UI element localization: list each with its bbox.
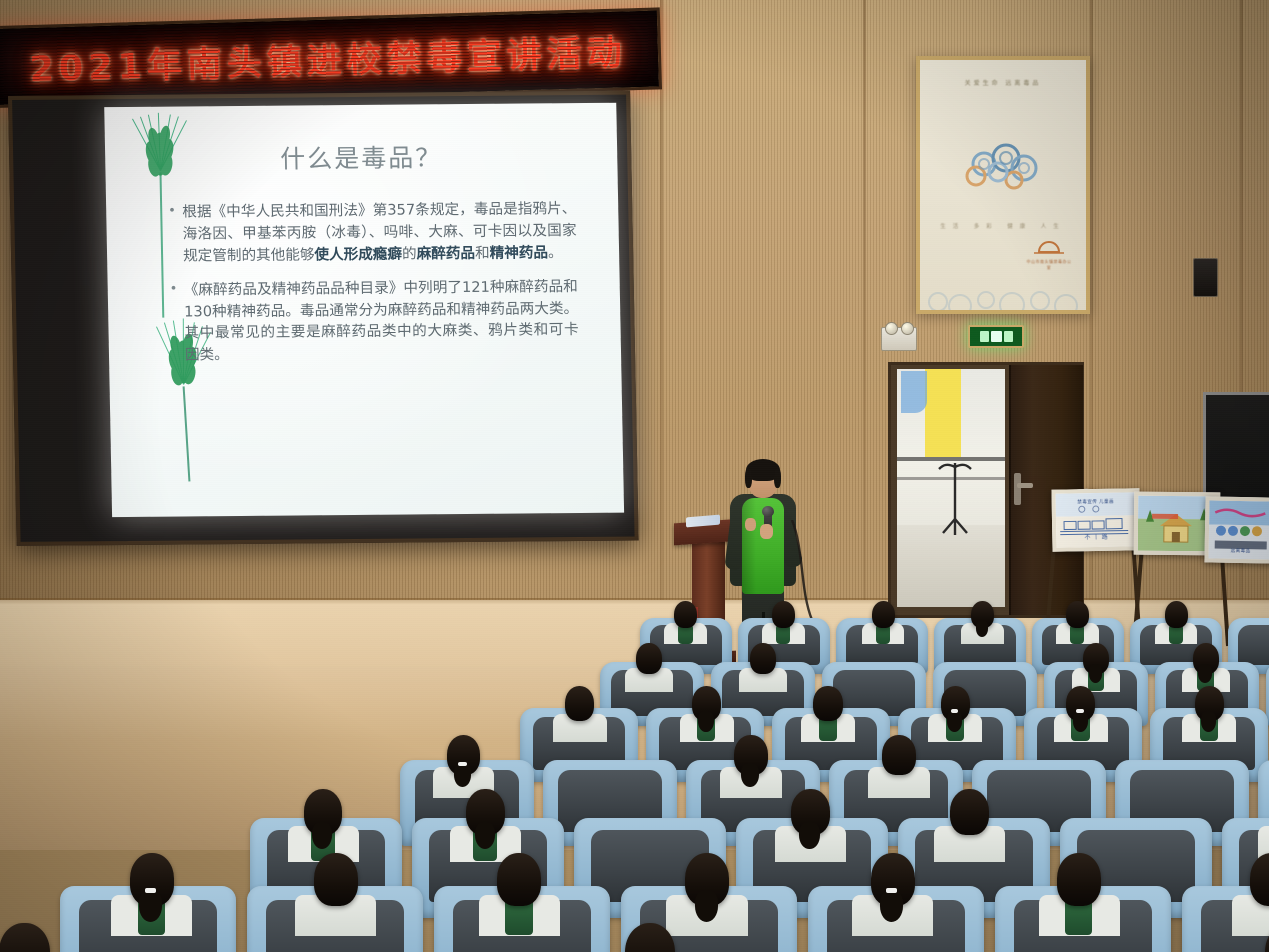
- coat-rack-icon: [937, 449, 973, 537]
- projection-surround: 什么是毒品？ •根据《中华人民共和国刑法》第357条规定，毒品是指鸦片、海洛因、…: [8, 91, 639, 546]
- student-head: [636, 643, 662, 674]
- artwork-caption: 远离毒品: [1209, 547, 1269, 554]
- running-person-icon: [991, 331, 1002, 342]
- student-ponytail: [698, 711, 713, 732]
- slide-bullet-text: 《麻醉药品及精神药品品种目录》中列明了121种麻醉药品和130种精神药品。毒品通…: [184, 276, 580, 367]
- corridor-floor: [897, 525, 1005, 607]
- artwork-caption: 不 丨 路: [1056, 531, 1136, 541]
- student-ponytail: [695, 890, 718, 922]
- slide-body: •根据《中华人民共和国刑法》第357条规定，毒品是指鸦片、海洛因、甲基苯丙胺（冰…: [168, 198, 579, 379]
- student-ponytail: [139, 890, 162, 922]
- sunrise-logo-icon: [1026, 238, 1072, 254]
- presenter-hair-side: [745, 468, 752, 488]
- auditorium-scene: 2021年南头镇进校禁毒宣讲活动: [0, 0, 1269, 952]
- poster-subtext: 生活 多彩 健康 人生: [920, 222, 1086, 230]
- lamp-bulb-icon: [901, 322, 914, 335]
- hair-tie: [1076, 709, 1084, 713]
- wall-poster: 关爱生命 远离毒品 生活 多彩 健康 人生 中山市南头镇禁毒办: [916, 56, 1090, 314]
- poster-logo: 中山市南头镇禁毒办公室: [1026, 238, 1072, 266]
- slide-bullet: •根据《中华人民共和国刑法》第357条规定，毒品是指鸦片、海洛因、甲基苯丙胺（冰…: [168, 198, 577, 267]
- student-head: [750, 643, 776, 674]
- presenter-hair-side: [774, 468, 781, 488]
- cloud-motif-icon: [954, 138, 1050, 194]
- student-head: [565, 686, 594, 721]
- student-head: [1057, 853, 1101, 906]
- seat-back: [1238, 625, 1269, 665]
- student-ponytail: [799, 822, 819, 850]
- hair-tie: [458, 762, 467, 766]
- student-ponytail: [976, 620, 988, 637]
- slide-bullet-text: 根据《中华人民共和国刑法》第357条规定，毒品是指鸦片、海洛因、甲基苯丙胺（冰毒…: [182, 198, 577, 267]
- student-artwork: 禁毒宣传 儿童画 不 丨 路: [1051, 488, 1140, 552]
- door-handle[interactable]: [1017, 483, 1033, 488]
- student-head: [872, 601, 895, 629]
- led-banner-text: 2021年南头镇进校禁毒宣讲活动: [29, 24, 628, 92]
- student-head: [1165, 601, 1188, 629]
- student-ponytail: [880, 890, 903, 922]
- corridor-yellow-panel: [925, 369, 961, 457]
- student-head: [813, 686, 842, 721]
- bullet-marker-icon: •: [168, 201, 183, 267]
- wall-speaker: [1193, 258, 1218, 297]
- student-artwork: 远离毒品: [1204, 496, 1269, 563]
- student-head: [882, 735, 916, 775]
- student-head: [674, 601, 697, 629]
- wall-seam: [863, 0, 866, 660]
- exit-sign: [968, 325, 1024, 348]
- student-head: [0, 923, 50, 952]
- hair-tie: [145, 888, 156, 893]
- slide-bullet: •《麻醉药品及精神药品品种目录》中列明了121种麻醉药品和130种精神药品。毒品…: [170, 276, 580, 367]
- presenter-hand-gesture: [745, 518, 756, 531]
- student-head: [950, 789, 989, 835]
- hair-tie: [886, 888, 897, 893]
- student-ponytail: [475, 822, 495, 850]
- student-ponytail: [1073, 711, 1088, 732]
- poster-headline: 关爱生命 远离毒品: [920, 78, 1086, 87]
- student-head: [1066, 601, 1089, 629]
- presenter-hand-mic: [760, 524, 773, 539]
- exit-text-glyph: [980, 331, 989, 342]
- presenter-vest-shadow: [742, 498, 756, 594]
- student-ponytail: [741, 763, 758, 787]
- student-head: [314, 853, 358, 906]
- hair-tie: [951, 709, 959, 713]
- wave-pattern-icon: [920, 268, 1086, 310]
- presentation-slide: 什么是毒品？ •根据《中华人民共和国刑法》第357条规定，毒品是指鸦片、海洛因、…: [104, 103, 624, 517]
- exit-text-glyph: [1004, 331, 1013, 342]
- audience-seating: [0, 600, 1269, 952]
- emergency-lamp: [881, 327, 917, 351]
- microphone-icon: [762, 506, 774, 517]
- corridor-blue-sign: [901, 371, 927, 413]
- slide-title: 什么是毒品？: [105, 137, 618, 177]
- corridor-view: [897, 369, 1005, 607]
- student-head: [497, 853, 541, 906]
- student-head: [772, 601, 795, 629]
- student-ponytail: [1089, 664, 1103, 683]
- student-ponytail: [1198, 664, 1212, 683]
- lamp-bulb-icon: [885, 322, 898, 335]
- door-lock-plate: [1014, 473, 1021, 505]
